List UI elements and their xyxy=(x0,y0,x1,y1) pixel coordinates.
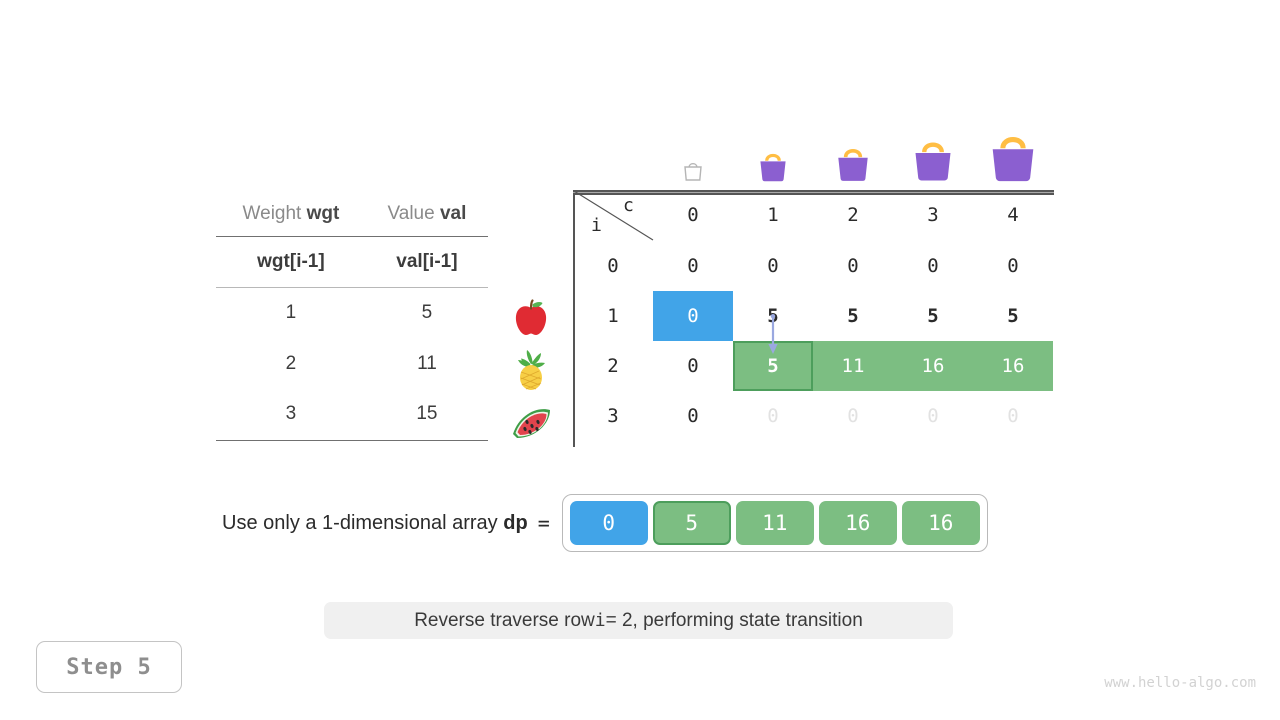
matrix-cell-0-3: 0 xyxy=(893,241,973,292)
dp-array-container: 0 5 11 16 16 xyxy=(562,494,988,552)
dp-cell-4[interactable]: 16 xyxy=(902,501,980,545)
matrix-axis-label-c: c xyxy=(623,195,634,216)
matrix-cell-3-3: 0 xyxy=(893,391,973,442)
matrix-axis-label-i: i xyxy=(591,215,602,236)
matrix-cell-2-3: 16 xyxy=(893,341,973,392)
matrix-cell-3-4: 0 xyxy=(973,391,1053,442)
dp-array-label-code: dp xyxy=(503,512,527,534)
matrix-cell-3-2: 0 xyxy=(813,391,893,442)
item-weight-value-table: Weight wgt Value val wgt[i-1] val[i-1] 1… xyxy=(216,192,488,441)
item-table-header-value: Value val xyxy=(366,192,488,236)
matrix-cell-1-3: 5 xyxy=(893,291,973,342)
caption-variable: i xyxy=(595,610,606,631)
item-value-2: 11 xyxy=(366,338,488,389)
dp-array-equals: = xyxy=(538,511,550,535)
matrix-cell-1-2: 5 xyxy=(813,291,893,342)
item-value-3: 15 xyxy=(366,389,488,440)
matrix-cell-0-1: 0 xyxy=(733,241,813,292)
item-table-row: 3 15 xyxy=(216,389,488,440)
matrix-row-header-3: 3 xyxy=(573,391,653,442)
matrix-cell-3-0: 0 xyxy=(653,391,733,442)
matrix-cell-0-2: 0 xyxy=(813,241,893,292)
dp-array-label-text: Use only a 1-dimensional array xyxy=(222,512,498,534)
pineapple-icon xyxy=(509,348,553,392)
item-weight-1: 1 xyxy=(216,287,366,338)
watermelon-icon xyxy=(509,399,553,443)
matrix-col-header-3: 3 xyxy=(893,190,973,241)
matrix-cell-0-0: 0 xyxy=(653,241,733,292)
watermark: www.hello-algo.com xyxy=(1104,675,1256,691)
slide-canvas: Weight wgt Value val wgt[i-1] val[i-1] 1… xyxy=(0,0,1280,720)
dp-array-section: Use only a 1-dimensional array dp = 0 5 … xyxy=(222,494,988,552)
header-weight-code: wgt xyxy=(307,203,340,224)
matrix-col-header-0: 0 xyxy=(653,190,733,241)
code-wgt-index: wgt[i-1] xyxy=(216,236,366,287)
item-table-row: 1 5 xyxy=(216,287,488,338)
item-value-1: 5 xyxy=(366,287,488,338)
caption-prefix: Reverse traverse row xyxy=(414,610,595,632)
dp-cell-2[interactable]: 11 xyxy=(736,501,814,545)
matrix-corner-diagonal xyxy=(573,190,654,241)
matrix-cell-1-0: 0 xyxy=(653,291,733,342)
matrix-row-header-2: 2 xyxy=(573,341,653,392)
matrix-cell-0-4: 0 xyxy=(973,241,1053,292)
matrix-col-header-2: 2 xyxy=(813,190,893,241)
matrix-cell-2-2: 11 xyxy=(813,341,893,392)
bag-icon-3 xyxy=(908,133,958,183)
matrix-cell-1-4: 5 xyxy=(973,291,1053,342)
matrix-cell-3-1: 0 xyxy=(733,391,813,442)
bag-icon-4 xyxy=(984,126,1042,184)
header-value-plain: Value xyxy=(387,203,434,224)
dp-array-label: Use only a 1-dimensional array dp xyxy=(222,512,528,535)
matrix-row-header-0: 0 xyxy=(573,241,653,292)
state-transition-arrow-icon xyxy=(765,314,781,358)
dp-cell-3[interactable]: 16 xyxy=(819,501,897,545)
dp-cell-1[interactable]: 5 xyxy=(653,501,731,545)
header-weight-plain: Weight xyxy=(243,203,302,224)
item-weight-2: 2 xyxy=(216,338,366,389)
item-table-code-row: wgt[i-1] val[i-1] xyxy=(216,236,488,287)
code-val-index: val[i-1] xyxy=(366,236,488,287)
caption-suffix: = 2, performing state transition xyxy=(606,610,863,632)
step-badge: Step 5 xyxy=(36,641,182,693)
dp-cell-0[interactable]: 0 xyxy=(570,501,648,545)
bag-icon-1 xyxy=(755,147,791,183)
step-badge-label: Step 5 xyxy=(66,655,151,680)
matrix-cell-2-4: 16 xyxy=(973,341,1053,392)
matrix-col-header-4: 4 xyxy=(973,190,1053,241)
bag-icon-2 xyxy=(832,141,874,183)
item-table-header-weight: Weight wgt xyxy=(216,192,366,236)
bag-outline-icon xyxy=(681,158,705,182)
caption-banner: Reverse traverse row i = 2, performing s… xyxy=(324,602,953,639)
item-weight-3: 3 xyxy=(216,389,366,440)
matrix-cell-2-0: 0 xyxy=(653,341,733,392)
item-table-header-row: Weight wgt Value val xyxy=(216,192,488,236)
apple-icon xyxy=(509,297,553,341)
dp-matrix: c i 0 1 2 3 4 0 1 2 3 0 0 0 0 0 0 5 5 5 … xyxy=(573,190,1054,443)
matrix-col-header-1: 1 xyxy=(733,190,813,241)
item-table-row: 2 11 xyxy=(216,338,488,389)
header-value-code: val xyxy=(440,203,466,224)
matrix-row-header-1: 1 xyxy=(573,291,653,342)
